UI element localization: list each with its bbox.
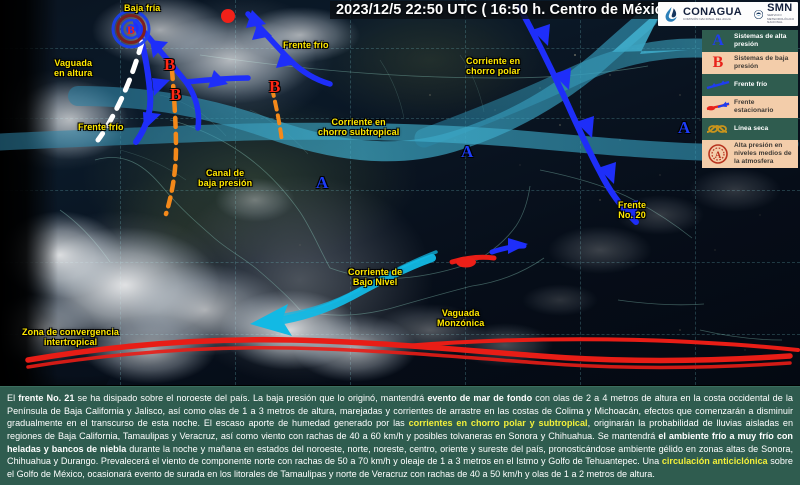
bulletin-text-2: se ha disipado sobre el noroeste del paí… <box>74 393 427 403</box>
conagua-water-drop-icon <box>664 6 679 23</box>
lat-lon-graticule <box>0 0 800 385</box>
legend-label-1: Sistemas de baja presión <box>734 55 795 71</box>
legend-row-5: AAlta presión en niveles medios de la at… <box>702 140 798 168</box>
legend-row-2: Frente frío <box>702 74 798 96</box>
marker-B-low-1: B <box>164 56 175 73</box>
marker-A-high-3: A <box>678 119 690 136</box>
agency-logo-bar: CONAGUA COMISIÓN NACIONAL DEL AGUA SMN S… <box>658 2 798 26</box>
low-pressure-red-dot-top <box>221 9 235 23</box>
legend-label-5: Alta presión en niveles medios de la atm… <box>734 142 795 166</box>
legend-row-4: Línea seca <box>702 118 798 140</box>
bulletin-bold-1: frente No. 21 <box>18 393 74 403</box>
label-canal-baja-presion: Canal de baja presión <box>198 168 252 188</box>
itcz-red-line <box>28 340 790 368</box>
bulletin-highlight-5: corrientes en chorro polar y subtropical <box>409 418 588 428</box>
marker-A-high-2: A <box>461 143 473 160</box>
cold-front-no-20 <box>520 8 638 222</box>
mid-level-high-icon: A <box>707 144 729 164</box>
label-vaguada-en-altura: Vaguada en altura <box>54 58 92 78</box>
satellite-map: B BBBAAA Baja fríaVaguada en alturaFrent… <box>0 0 800 385</box>
legend-row-1: BSistemas de baja presión <box>702 52 798 74</box>
marker-A-high-1: A <box>316 174 328 191</box>
marker-B-low-2: B <box>269 78 280 95</box>
label-frente-frio-left: Frente frío <box>78 122 124 132</box>
datetime-title: 2023/12/5 22:50 UTC ( 16:50 h. Centro de… <box>330 1 687 19</box>
stationary-front-icon <box>705 100 731 114</box>
low-level-jet-arrow <box>250 252 436 336</box>
bulletin-highlight-9: circulación anticiclónica <box>662 456 768 466</box>
bulletin-bold-3: evento de mar de fondo <box>427 393 532 403</box>
legend-label-4: Línea seca <box>734 125 768 133</box>
letter-B-red-icon: B <box>713 55 724 71</box>
label-zona-convergencia-intertropical: Zona de convergencia intertropical <box>22 327 119 347</box>
smn-eagle-icon <box>754 6 763 23</box>
label-corriente-chorro-polar: Corriente en chorro polar <box>466 56 520 76</box>
letter-B-red: B <box>705 55 731 72</box>
label-corriente-chorro-subtropical: Corriente en chorro subtropical <box>318 117 399 137</box>
dry-line-icon <box>705 121 731 138</box>
letter-A-blue-icon: A <box>712 33 724 49</box>
stationary-front-tropical <box>452 238 528 268</box>
svg-text:B: B <box>127 23 135 37</box>
dry-line-right <box>272 88 282 142</box>
coastline-overlay <box>0 0 800 385</box>
smn-subtitle: SERVICIO METEOROLÓGICO NACIONAL <box>767 14 800 25</box>
stationary-front-icon <box>705 99 731 116</box>
monsoon-trough-red-line <box>404 339 798 350</box>
legend-label-2: Frente frío <box>734 81 767 89</box>
label-frente-frio-top: Frente frío <box>283 40 329 50</box>
conagua-logo: CONAGUA COMISIÓN NACIONAL DEL AGUA <box>658 2 748 26</box>
cold-low-symbol: B <box>110 10 152 50</box>
synoptic-features-overlay <box>0 0 800 385</box>
cloud-cover-overlay <box>0 0 800 385</box>
svg-text:A: A <box>715 150 722 160</box>
weather-map-screenshot: B BBBAAA Baja fríaVaguada en alturaFrent… <box>0 0 800 485</box>
label-vaguada-monzonica: Vaguada Monzónica <box>437 308 484 328</box>
marker-B-low-3: B <box>170 86 181 103</box>
legend-label-3: Frente estacionario <box>734 99 795 115</box>
bulletin-text-0: El <box>7 393 18 403</box>
conagua-subtitle: COMISIÓN NACIONAL DEL AGUA <box>683 18 742 22</box>
legend-label-0: Sistemas de alta presión <box>734 33 795 49</box>
label-baja-fria: Baja fría <box>124 3 160 13</box>
legend-row-3: Frente estacionario <box>702 96 798 118</box>
label-corriente-bajo-nivel: Corriente de Bajo Nivel <box>348 267 402 287</box>
map-legend: ASistemas de alta presiónBSistemas de ba… <box>702 30 798 168</box>
cold-front-icon <box>705 79 731 92</box>
cold-front-icon <box>705 77 731 94</box>
label-frente-no-20: Frente No. 20 <box>618 200 646 220</box>
mid-level-high-icon: A <box>705 146 731 163</box>
forecast-bulletin-text: El frente No. 21 se ha disipado sobre el… <box>0 386 800 485</box>
letter-A-blue: A <box>705 33 731 50</box>
dry-line-icon <box>705 123 731 136</box>
smn-logo: SMN SERVICIO METEOROLÓGICO NACIONAL <box>748 2 800 26</box>
legend-row-0: ASistemas de alta presión <box>702 30 798 52</box>
